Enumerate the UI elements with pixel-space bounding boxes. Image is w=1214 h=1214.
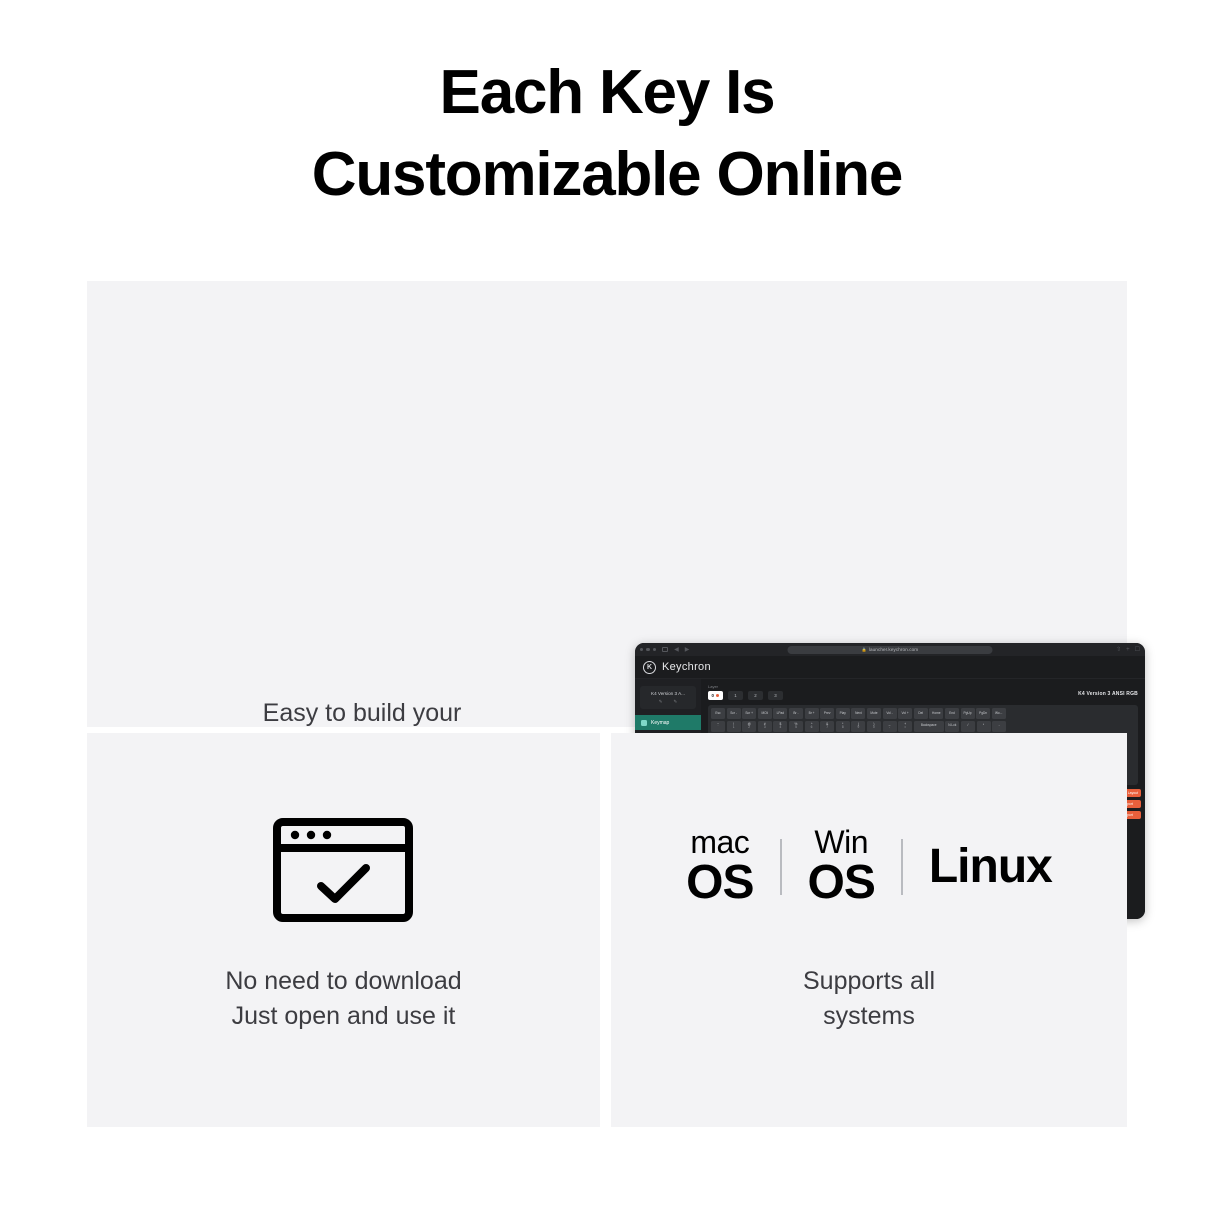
keyboard-key[interactable]: - (992, 721, 1006, 732)
key-legend: Br + (809, 712, 815, 716)
key-legend: Vol - (886, 712, 892, 716)
os-logo-macos: mac OS (686, 826, 753, 907)
keyboard-key[interactable]: N.Lck (945, 721, 959, 732)
browser-chrome-left-controls: ◀ ▶ (635, 647, 689, 653)
traffic-light-icon[interactable] (653, 648, 656, 651)
layer-button-1[interactable]: 1 (728, 691, 743, 700)
share-icon[interactable]: ⇧ (1116, 647, 1121, 653)
keychron-logo-icon: K (643, 661, 656, 674)
key-legend: / (967, 724, 968, 728)
key-legend: MCtl (762, 712, 769, 716)
keyboard-key[interactable]: Vol + (898, 708, 912, 719)
browser-window-check-icon (273, 818, 413, 922)
layer-button-label: 2 (754, 693, 756, 698)
key-legend-bottom: 5 (795, 726, 797, 730)
keyboard-key[interactable]: !1 (727, 721, 741, 732)
keyboard-key[interactable]: Mute (867, 708, 881, 719)
key-legend: LPad (777, 712, 784, 716)
sidebar-item-keymap[interactable]: Keymap (635, 715, 701, 730)
keyboard-key[interactable]: )0 (867, 721, 881, 732)
keyboard-key[interactable]: #3 (758, 721, 772, 732)
key-legend: Br - (793, 712, 798, 716)
os-logo-macos-prefix: mac (690, 826, 749, 858)
keyboard-key[interactable]: Wo... (992, 708, 1006, 719)
feature-description-line-1: Easy to build your (197, 696, 527, 730)
keyboard-key[interactable]: Vol - (883, 708, 897, 719)
lock-icon: 🔒 (862, 647, 867, 652)
key-legend-bottom: 3 (764, 726, 766, 730)
key-legend: Backspace (921, 724, 937, 728)
layer-section-label: Layer (708, 684, 1138, 689)
os-support-caption-line-2: systems (631, 999, 1107, 1034)
key-legend: PgUp (964, 712, 972, 716)
key-legend: - (999, 724, 1000, 728)
os-logo-divider (780, 839, 782, 895)
tabs-overview-icon[interactable]: ☐ (1135, 647, 1140, 653)
layer-button-3[interactable]: 3 (768, 691, 783, 700)
keyboard-key[interactable]: / (961, 721, 975, 732)
key-legend-bottom: 9 (857, 726, 859, 730)
keymap-icon (641, 720, 647, 726)
app-brand-bar: K Keychron (635, 656, 1145, 679)
page-title-line-1: Each Key Is (0, 52, 1214, 134)
page-title-line-2: Customizable Online (0, 134, 1214, 216)
keyboard-key[interactable]: *8 (836, 721, 850, 732)
keyboard-key[interactable]: * (977, 721, 991, 732)
main-top-row: 0123 K4 Version 3 ANSI RGB (708, 691, 1138, 700)
browser-chrome: ◀ ▶ 🔒 launcher.keychron.com ⇧ + ☐ (635, 643, 1145, 656)
key-legend: Next (855, 712, 862, 716)
keyboard-card-icons: ✎ ✎ (643, 699, 693, 705)
key-legend-bottom: 0 (873, 726, 875, 730)
no-download-caption-line-2: Just open and use it (107, 999, 580, 1034)
key-legend-bottom: 7 (826, 726, 828, 730)
app-brand-name: Keychron (662, 661, 711, 673)
key-legend: Del (918, 712, 923, 716)
layer-button-label: 1 (734, 693, 736, 698)
traffic-light-icon[interactable] (646, 648, 649, 651)
os-logo-linux: Linux (929, 842, 1052, 891)
keyboard-key[interactable]: Del (914, 708, 928, 719)
keyboard-key[interactable]: %5 (789, 721, 803, 732)
keyboard-key[interactable]: Next (851, 708, 865, 719)
os-support-caption-line-1: Supports all (631, 964, 1107, 999)
keyboard-key[interactable]: ^6 (805, 721, 819, 732)
keyboard-key[interactable]: Esc (711, 708, 725, 719)
no-download-caption: No need to download Just open and use it (107, 964, 580, 1034)
no-download-caption-line-1: No need to download (107, 964, 580, 999)
sidebar-toggle-icon[interactable] (662, 647, 668, 652)
key-legend: N.Lck (948, 724, 956, 728)
key-legend: Prev (824, 712, 831, 716)
traffic-light-icon[interactable] (640, 648, 643, 651)
os-logo-winos-prefix: Win (814, 826, 868, 858)
key-legend-bottom: 1 (733, 726, 735, 730)
key-legend: End (949, 712, 955, 716)
layer-button-label: 0 (712, 693, 714, 698)
keyboard-key[interactable]: MCtl (758, 708, 772, 719)
add-tab-icon[interactable]: + (1126, 647, 1130, 653)
sidebar-item-keymap-label: Keymap (651, 720, 669, 726)
key-legend: Scr + (745, 712, 753, 716)
back-chevron-icon[interactable]: ◀ (674, 647, 679, 653)
key-legend: Play (840, 712, 846, 716)
keyboard-key[interactable]: Home (929, 708, 943, 719)
os-logo-macos-suffix: OS (686, 859, 753, 907)
key-legend-bottom: ` (717, 726, 718, 730)
page-root: Each Key Is Customizable Online Easy to … (0, 0, 1214, 1214)
layer-selector: 0123 (708, 691, 783, 700)
keyboard-key[interactable]: &7 (820, 721, 834, 732)
key-legend-bottom: 6 (811, 726, 813, 730)
feature-panel-os-support (611, 733, 1127, 1127)
key-legend: Home (932, 712, 941, 716)
key-legend: * (983, 724, 984, 728)
keyboard-key[interactable]: (9 (851, 721, 865, 732)
os-support-caption: Supports all systems (631, 964, 1107, 1034)
keyboard-key[interactable]: LPad (773, 708, 787, 719)
keyboard-key[interactable]: @2 (742, 721, 756, 732)
keyboard-key[interactable]: ~` (711, 721, 725, 732)
layer-button-2[interactable]: 2 (748, 691, 763, 700)
keyboard-row: EscScr -Scr +MCtlLPadBr -Br +PrevPlayNex… (711, 708, 1135, 719)
os-logo-winos-suffix: OS (808, 859, 875, 907)
keyboard-key[interactable]: PgDn (976, 708, 990, 719)
connected-keyboard-card[interactable]: K4 Version 3 A... ✎ ✎ (640, 686, 696, 709)
layer-button-label: 3 (774, 693, 776, 698)
key-legend-bottom: 2 (748, 726, 750, 730)
feature-panel-no-download (87, 733, 600, 1127)
page-title: Each Key Is Customizable Online (0, 52, 1214, 216)
settings-pencil-icon[interactable]: ✎ (674, 699, 678, 705)
keyboard-key[interactable]: PgUp (961, 708, 975, 719)
layer-active-indicator-icon (716, 694, 720, 698)
keyboard-key[interactable]: $4 (773, 721, 787, 732)
edit-icon[interactable]: ✎ (659, 699, 663, 705)
key-legend: Scr - (730, 712, 737, 716)
key-legend-bottom: 4 (779, 726, 781, 730)
address-bar[interactable]: 🔒 launcher.keychron.com (788, 646, 993, 654)
keyboard-key[interactable]: Scr + (742, 708, 756, 719)
keyboard-key[interactable]: Play (836, 708, 850, 719)
address-bar-url: launcher.keychron.com (869, 647, 918, 652)
key-legend-bottom: = (904, 726, 906, 730)
keyboard-key[interactable]: += (898, 721, 912, 732)
os-logo-divider (901, 839, 903, 895)
os-logo-winos: Win OS (808, 826, 875, 907)
keyboard-key[interactable]: Prev (820, 708, 834, 719)
key-legend-bottom: - (889, 726, 890, 730)
key-legend: Wo... (995, 712, 1002, 716)
forward-chevron-icon[interactable]: ▶ (685, 647, 690, 653)
layer-button-0[interactable]: 0 (708, 691, 723, 700)
key-legend-bottom: 8 (842, 726, 844, 730)
os-logo-linux-label: Linux (929, 843, 1052, 891)
keyboard-key[interactable]: Br + (805, 708, 819, 719)
keyboard-key[interactable]: _- (883, 721, 897, 732)
keyboard-row: ~`!1@2#3$4%5^6&7*8(9)0_-+=BackspaceN.Lck… (711, 721, 1135, 732)
keyboard-model-name: K4 Version 3 ANSI RGB (1078, 691, 1138, 697)
connected-keyboard-name: K4 Version 3 A... (643, 691, 693, 696)
os-logo-row: mac OS Win OS Linux (611, 826, 1127, 907)
browser-chrome-right-controls: ⇧ + ☐ (1116, 647, 1140, 653)
key-legend: PgDn (979, 712, 987, 716)
keyboard-key[interactable]: Backspace (914, 721, 944, 732)
keyboard-key[interactable]: Br - (789, 708, 803, 719)
keyboard-key[interactable]: Scr - (727, 708, 741, 719)
key-legend: Esc (715, 712, 720, 716)
key-legend: Mute (870, 712, 877, 716)
key-legend: Vol + (902, 712, 909, 716)
keyboard-key[interactable]: End (945, 708, 959, 719)
feature-panel-customization: Easy to build your own shortcut, keymap,… (87, 281, 1127, 727)
